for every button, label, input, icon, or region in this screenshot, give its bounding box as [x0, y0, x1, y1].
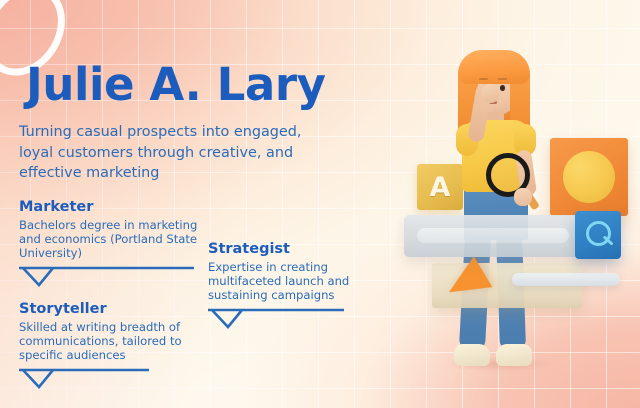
tagline: Turning casual prospects into engaged, l…	[19, 122, 309, 184]
character-hand-left	[482, 84, 499, 103]
skill-title-strategist: Strategist	[208, 240, 398, 258]
skill-block-marketer: Marketer Bachelors degree in marketing a…	[19, 198, 209, 287]
character-shoe-left	[454, 344, 490, 366]
card-progress-bar	[512, 273, 620, 286]
search-button[interactable]	[575, 211, 621, 259]
character-hand-right	[514, 188, 532, 206]
character-shoe-right	[496, 344, 532, 366]
skill-body-marketer: Bachelors degree in marketing and econom…	[19, 218, 209, 261]
poster-canvas: Julie A. Lary Turning casual prospects i…	[0, 0, 640, 408]
letter-block-a-label: A	[430, 174, 451, 201]
hero-illustration: A	[386, 0, 640, 408]
orange-square-shape	[550, 138, 628, 216]
text-column: Julie A. Lary Turning casual prospects i…	[0, 0, 420, 408]
skill-body-storyteller: Skilled at writing breadth of communicat…	[19, 320, 209, 363]
skill-title-marketer: Marketer	[19, 198, 209, 216]
skill-title-storyteller: Storyteller	[19, 300, 209, 318]
yellow-circle-shape	[563, 151, 615, 203]
search-input[interactable]	[417, 228, 569, 243]
skill-body-strategist: Expertise in creating multifaceted launc…	[208, 260, 398, 303]
skill-block-strategist: Strategist Expertise in creating multifa…	[208, 240, 398, 329]
underline-pointer-strategist	[208, 307, 344, 329]
letter-block-a: A	[417, 164, 463, 210]
page-title: Julie A. Lary	[26, 62, 326, 108]
underline-pointer-marketer	[19, 265, 194, 287]
skill-block-storyteller: Storyteller Skilled at writing breadth o…	[19, 300, 209, 389]
character-eye-right	[500, 85, 505, 91]
underline-pointer-storyteller	[19, 367, 149, 389]
character-hair-fringe	[458, 50, 530, 84]
